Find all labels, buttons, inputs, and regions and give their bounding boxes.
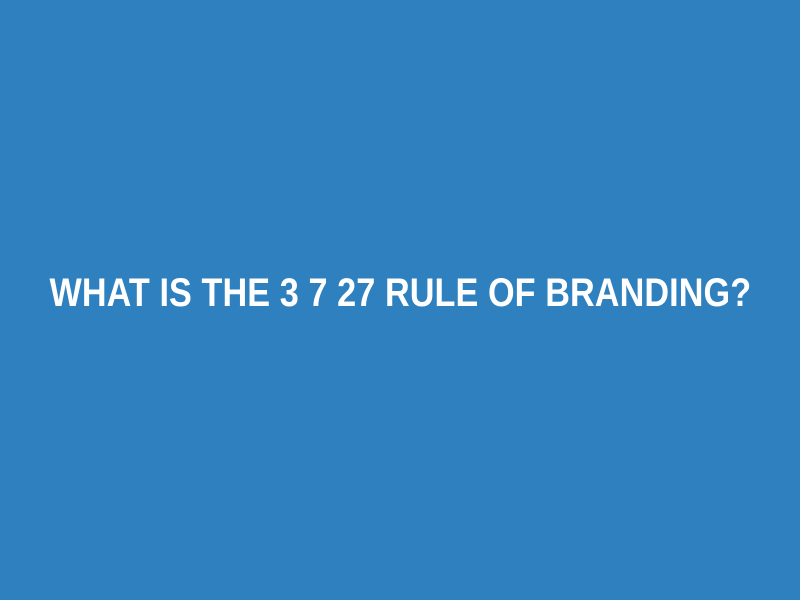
page-title: WHAT IS THE 3 7 27 RULE OF BRANDING? (49, 272, 751, 314)
featured-image-card: WHAT IS THE 3 7 27 RULE OF BRANDING? (0, 0, 800, 600)
headline-band: WHAT IS THE 3 7 27 RULE OF BRANDING? (0, 272, 800, 314)
